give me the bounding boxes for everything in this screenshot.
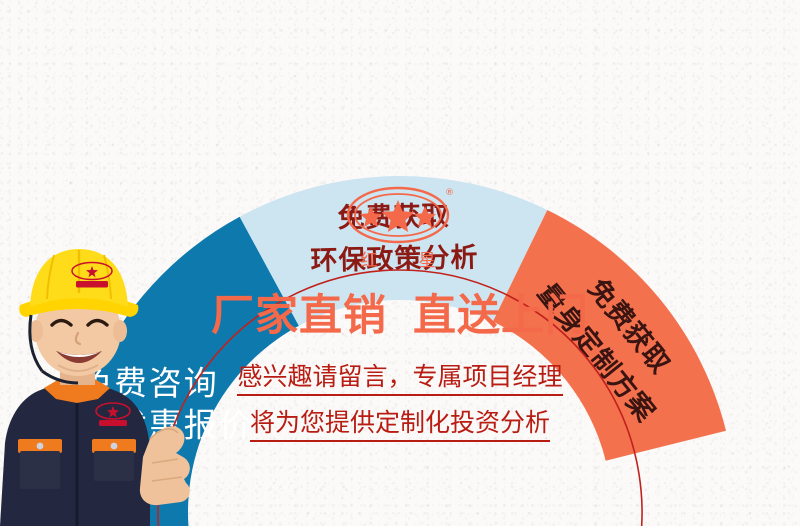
pocket-left-body bbox=[20, 451, 60, 489]
star-left bbox=[360, 206, 382, 227]
logo-registered-mark: ® bbox=[445, 188, 454, 198]
pocket-button-right bbox=[111, 443, 118, 450]
pocket-right-body bbox=[94, 451, 134, 481]
headline-part-1: 厂家直销 bbox=[211, 291, 387, 341]
worker-body bbox=[0, 375, 150, 526]
pocket-button-left bbox=[37, 443, 44, 450]
worker-illustration bbox=[0, 243, 215, 526]
brand-logo: ® 红 星 bbox=[341, 183, 461, 275]
star-right bbox=[414, 206, 436, 227]
subline-1: 感兴趣请留言，专属项目经理 bbox=[237, 362, 562, 396]
star-center bbox=[382, 200, 415, 232]
ear-right bbox=[113, 320, 127, 342]
headline-part-2: 直送上门 bbox=[413, 291, 589, 341]
subline-2: 将为您提供定制化投资分析 bbox=[250, 408, 550, 442]
logo-brand-right: 星 bbox=[419, 251, 436, 271]
promo-banner: 免费预约到厂带料试机免费咨询设备优惠报价免费获取环保政策分析免费获取量身定制方案… bbox=[0, 0, 800, 526]
logo-stars bbox=[360, 200, 436, 232]
logo-brand-left: 红 bbox=[361, 251, 378, 271]
